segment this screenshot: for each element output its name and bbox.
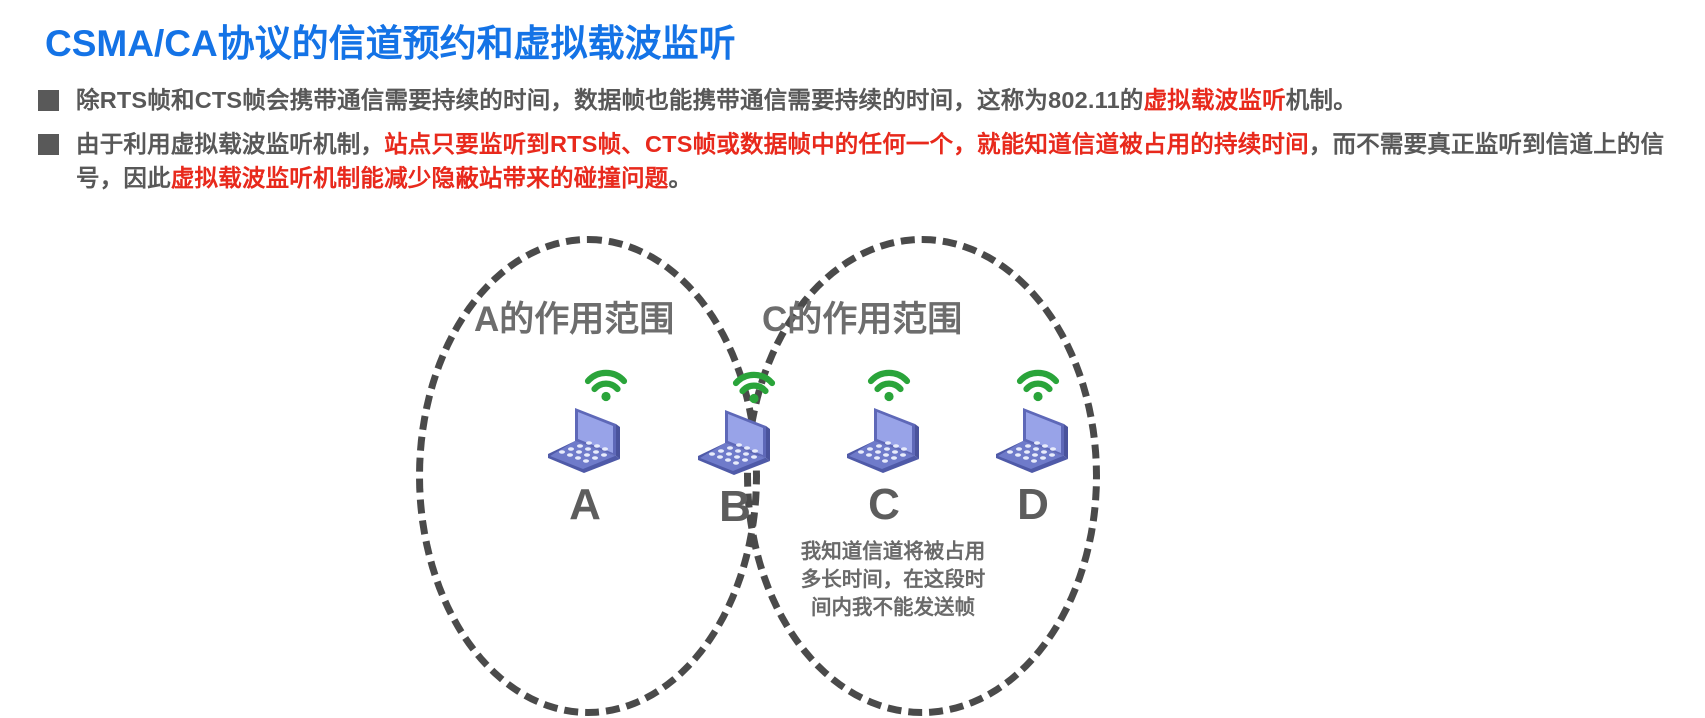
station-node-d: D	[973, 366, 1093, 528]
coverage-label-a: A的作用范围	[474, 291, 674, 342]
bullet-2-seg-1: 由于利用虚拟载波监听机制，	[76, 131, 384, 157]
bullet-2-seg-4-highlight: 虚拟载波监听机制能减少隐蔽站带来的碰撞问题	[171, 165, 669, 191]
wifi-dot	[1033, 392, 1042, 401]
station-letter-a: A	[525, 482, 645, 528]
laptop-icon	[990, 402, 1076, 480]
wifi-wrap-d	[973, 366, 1093, 406]
wifi-dot	[601, 392, 610, 401]
station-letter-b: B	[675, 484, 795, 530]
station-node-b: B	[675, 368, 795, 530]
bullet-1-seg-3: 机制。	[1286, 87, 1357, 113]
bullet-2-seg-2-highlight: 站点只要监听到RTS帧、CTS帧或数据帧中的任何一个，就能知道信道被占用的持续时…	[384, 131, 1309, 157]
bullet-item-1-text: 除RTS帧和CTS帧会携带通信需要持续的时间，数据帧也能携带通信需要持续的时间，…	[76, 83, 1357, 117]
wifi-dot	[884, 392, 893, 401]
coverage-diagram: A的作用范围 C的作用范围	[0, 218, 1705, 718]
bullet-item-2: 由于利用虚拟载波监听机制，站点只要监听到RTS帧、CTS帧或数据帧中的任何一个，…	[38, 127, 1678, 195]
wifi-wrap-a	[525, 366, 645, 406]
bullet-square-icon	[38, 134, 59, 155]
coverage-label-c: C的作用范围	[762, 291, 962, 342]
wifi-wrap-b	[675, 368, 795, 408]
laptop-icon	[542, 402, 628, 480]
node-c-caption: 我知道信道将被占用 多长时间，在这段时 间内我不能发送帧	[783, 538, 1003, 622]
wifi-icon	[866, 366, 912, 402]
station-letter-c: C	[824, 482, 944, 528]
wifi-dot	[749, 394, 758, 403]
bullet-2-seg-5: 。	[669, 165, 693, 191]
station-letter-d: D	[973, 482, 1093, 528]
wifi-icon	[731, 368, 777, 404]
station-node-a: A	[525, 366, 645, 528]
page-title: CSMA/CA协议的信道预约和虚拟载波监听	[45, 13, 736, 67]
station-node-c: C	[824, 366, 944, 528]
wifi-icon	[583, 366, 629, 402]
wifi-wrap-c	[824, 366, 944, 406]
caption-line-2: 多长时间，在这段时	[783, 566, 1003, 594]
bullet-item-1: 除RTS帧和CTS帧会携带通信需要持续的时间，数据帧也能携带通信需要持续的时间，…	[38, 83, 1678, 117]
caption-line-1: 我知道信道将被占用	[783, 538, 1003, 566]
bullet-1-seg-2-highlight: 虚拟载波监听	[1144, 87, 1286, 113]
laptop-icon	[692, 404, 778, 482]
laptop-icon	[841, 402, 927, 480]
bullet-square-icon	[38, 90, 59, 111]
wifi-icon	[1015, 366, 1061, 402]
bullet-item-2-text: 由于利用虚拟载波监听机制，站点只要监听到RTS帧、CTS帧或数据帧中的任何一个，…	[76, 127, 1678, 195]
caption-line-3: 间内我不能发送帧	[783, 594, 1003, 622]
bullet-list: 除RTS帧和CTS帧会携带通信需要持续的时间，数据帧也能携带通信需要持续的时间，…	[38, 83, 1678, 205]
bullet-1-seg-1: 除RTS帧和CTS帧会携带通信需要持续的时间，数据帧也能携带通信需要持续的时间，…	[76, 87, 1144, 113]
